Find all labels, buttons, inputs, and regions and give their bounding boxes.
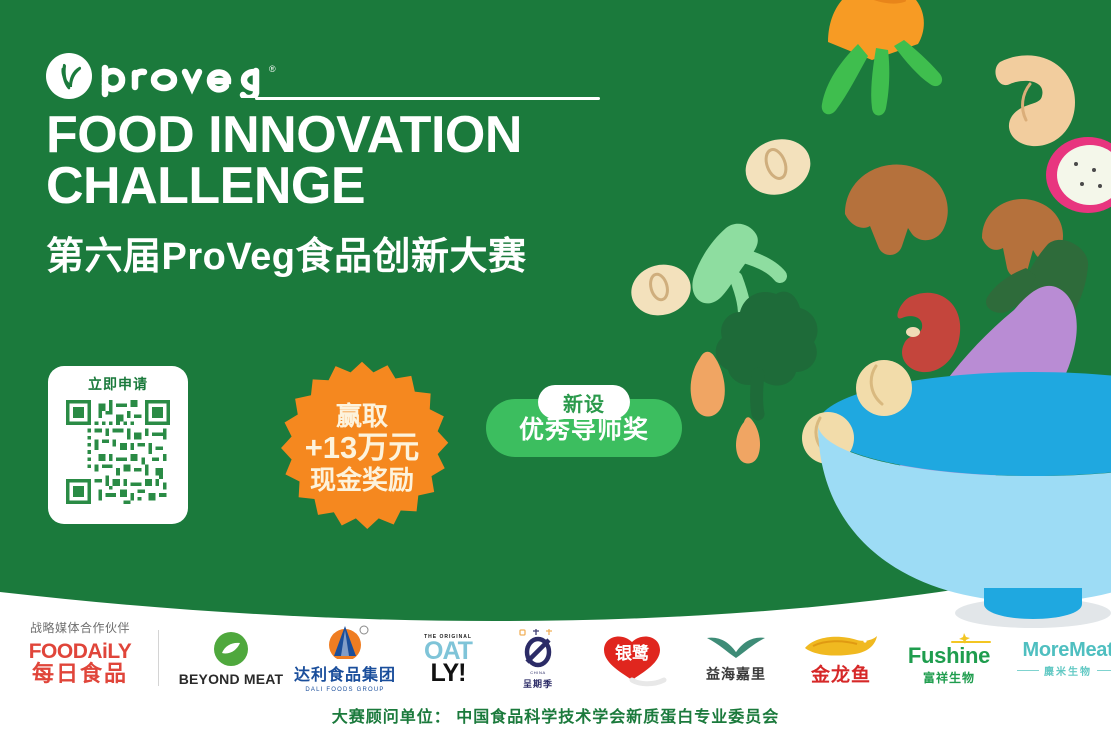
arawana-fish-icon xyxy=(801,632,881,658)
media-partner-label: 战略媒体合作伙伴 xyxy=(14,622,146,634)
yinlu-heart-icon: 银鹭 xyxy=(590,630,674,688)
advisor-line: 大赛顾问单位： 中国食品科学技术学会新质蛋白专业委员会 xyxy=(0,703,1111,727)
fushine-en: Fushine xyxy=(908,645,990,667)
dali-cn: 达利食品集团 xyxy=(294,661,396,685)
sponsor-logos: BEYOND MEAT 达利食品集团 DALI FOODS GROUP THE … xyxy=(172,620,1102,698)
svg-text:®: ® xyxy=(269,64,276,74)
moremeat-en: MoreMeat xyxy=(1023,640,1111,660)
moremeat-cn: 麋米生物 xyxy=(1044,663,1092,678)
dali-mark-icon xyxy=(316,625,374,659)
sponsor-zero: CHINA 呈期季 xyxy=(496,620,580,698)
moremeat-cn-row: 麋米生物 xyxy=(1017,663,1111,678)
proveg-logo: ® xyxy=(46,50,646,102)
title-line-2: CHALLENGE xyxy=(46,161,646,212)
arawana-cn: 金龙鱼 xyxy=(811,660,871,687)
page-title: FOOD INNOVATION CHALLENGE xyxy=(46,110,646,212)
mentor-new-tag: 新设 xyxy=(538,385,630,419)
page-title-chinese: 第六届ProVeg食品创新大赛 xyxy=(46,236,646,279)
yihai-kerry-wings-icon xyxy=(705,634,767,660)
sponsor-moremeat: MoreMeat 麋米生物 xyxy=(1004,620,1111,698)
prize-line-3: 现金奖励 xyxy=(305,466,420,494)
mentor-tag-label: 新设 xyxy=(563,388,605,417)
yihai-kerry-cn: 益海嘉里 xyxy=(706,664,766,684)
sponsor-fushine: Fushine 富祥生物 xyxy=(894,620,1004,698)
oatly-line-2: LY! xyxy=(431,662,466,685)
title-line-1: FOOD INNOVATION xyxy=(46,106,522,164)
foodaily-cn: 每日食品 xyxy=(14,663,146,685)
media-partner-block: 战略媒体合作伙伴 FOODAiLY 每日食品 xyxy=(14,622,146,686)
beyond-meat-label: BEYOND MEAT xyxy=(179,671,284,687)
prize-badge: 赢取 +13万元 现金奖励 xyxy=(274,360,450,536)
qr-label: 立即申请 xyxy=(88,377,148,391)
foodaily-en: FOODAiLY xyxy=(14,641,146,662)
beyond-meat-icon xyxy=(214,632,248,666)
sponsor-arawana: 金龙鱼 xyxy=(788,620,894,698)
header-rule xyxy=(255,97,600,100)
foodaily-logo: FOODAiLY 每日食品 xyxy=(14,641,146,686)
moremeat-rule-left xyxy=(1017,670,1039,671)
zero-cn: 呈期季 xyxy=(523,677,553,690)
moremeat-rule-right xyxy=(1097,670,1111,671)
svg-text:银鹭: 银鹭 xyxy=(615,643,650,663)
sponsor-beyond-meat: BEYOND MEAT xyxy=(172,620,290,698)
sponsor-dali-foods: 达利食品集团 DALI FOODS GROUP xyxy=(290,620,400,698)
prize-line-2: +13万元 xyxy=(305,431,420,464)
proveg-wordmark: ® xyxy=(99,53,299,99)
header: ® FOOD INNOVATION CHALLENGE 第六届ProVeg食品创… xyxy=(46,50,646,278)
poster: ® FOOD INNOVATION CHALLENGE 第六届ProVeg食品创… xyxy=(0,0,1111,741)
proveg-leaf-icon xyxy=(46,53,92,99)
badges-row: 立即申请 xyxy=(46,360,666,530)
qr-code[interactable] xyxy=(66,400,170,504)
qr-apply-card[interactable]: 立即申请 xyxy=(48,366,188,524)
mentor-award-badge: 优秀导师奖 新设 xyxy=(486,387,682,457)
sponsor-yihai-kerry: 益海嘉里 xyxy=(684,620,788,698)
dali-en: DALI FOODS GROUP xyxy=(305,687,384,693)
zero-en: CHINA xyxy=(530,670,545,675)
prize-line-1: 赢取 xyxy=(305,402,420,430)
fushine-cn: 富祥生物 xyxy=(923,669,975,686)
prize-text: 赢取 +13万元 现金奖励 xyxy=(305,402,420,495)
footer-divider xyxy=(158,630,159,686)
zero-mark-icon xyxy=(512,628,564,670)
sponsor-yinlu: 银鹭 xyxy=(580,620,684,698)
sponsor-oatly: THE ORIGINAL OAT LY! xyxy=(400,620,496,698)
